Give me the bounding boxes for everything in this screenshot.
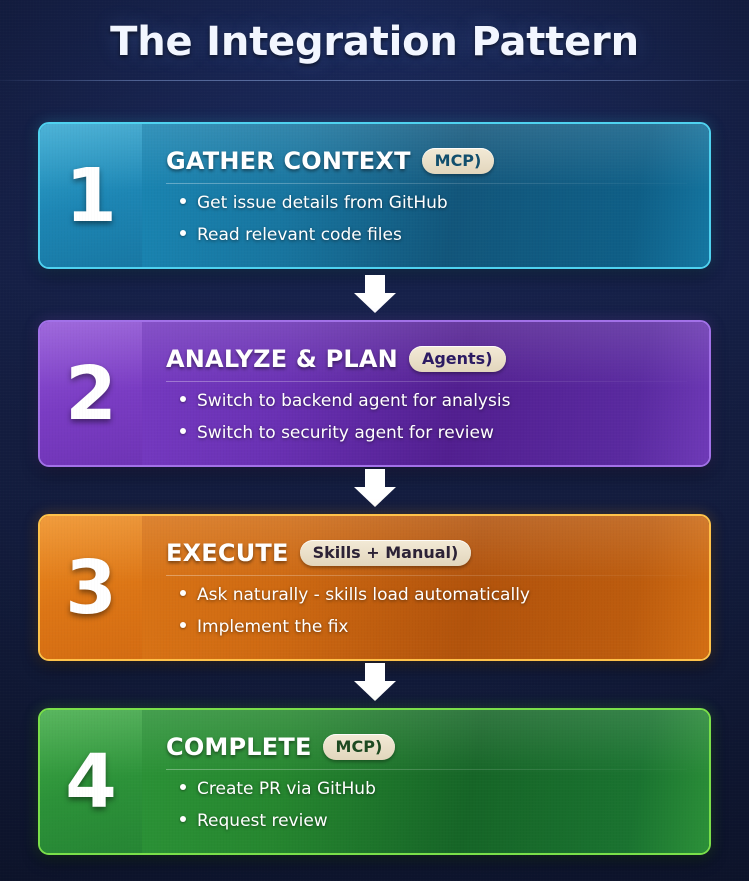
arrow-down-icon	[365, 275, 385, 293]
bullet-text: Request review	[197, 811, 328, 831]
list-item: Ask naturally - skills load automaticall…	[180, 585, 691, 605]
bullet-text: Create PR via GitHub	[197, 779, 376, 799]
integration-pattern-infographic: The Integration Pattern 1 GATHER CONTEXT…	[0, 0, 749, 881]
arrow-step2-to-step3	[353, 469, 397, 507]
step-number-4: 4	[40, 745, 142, 819]
step-number-panel-3: 3	[40, 516, 142, 659]
step-badge-1: MCP)	[422, 148, 495, 174]
step-title-2: ANALYZE & PLAN	[166, 345, 398, 373]
bullet-dot-icon	[180, 230, 186, 236]
step-card-3[interactable]: 3 EXECUTE Skills + Manual) Ask naturally…	[38, 514, 711, 661]
card-heading-row-2: ANALYZE & PLAN Agents)	[166, 344, 691, 374]
bullet-text: Get issue details from GitHub	[197, 193, 448, 213]
bullet-list-2: Switch to backend agent for analysis Swi…	[180, 391, 691, 455]
card-content-2: ANALYZE & PLAN Agents) Switch to backend…	[166, 322, 691, 465]
arrow-step3-to-step4	[353, 663, 397, 701]
step-title-3: EXECUTE	[166, 539, 289, 567]
arrow-head	[354, 293, 396, 313]
card-heading-divider-3	[166, 575, 687, 576]
card-content-3: EXECUTE Skills + Manual) Ask naturally -…	[166, 516, 691, 659]
step-title-4: COMPLETE	[166, 733, 312, 761]
list-item: Get issue details from GitHub	[180, 193, 691, 213]
list-item: Read relevant code files	[180, 225, 691, 245]
list-item: Create PR via GitHub	[180, 779, 691, 799]
bullet-text: Implement the fix	[197, 617, 348, 637]
card-heading-row-1: GATHER CONTEXT MCP)	[166, 146, 691, 176]
step-card-2[interactable]: 2 ANALYZE & PLAN Agents) Switch to backe…	[38, 320, 711, 467]
step-badge-4: MCP)	[323, 734, 396, 760]
step-card-4[interactable]: 4 COMPLETE MCP) Create PR via GitHub Req…	[38, 708, 711, 855]
bullet-text: Switch to security agent for review	[197, 423, 494, 443]
list-item: Request review	[180, 811, 691, 831]
list-item: Switch to backend agent for analysis	[180, 391, 691, 411]
bullet-list-3: Ask naturally - skills load automaticall…	[180, 585, 691, 649]
bullet-dot-icon	[180, 784, 186, 790]
bullet-dot-icon	[180, 428, 186, 434]
page-title: The Integration Pattern	[0, 19, 749, 65]
bullet-text: Read relevant code files	[197, 225, 402, 245]
arrow-down-icon	[365, 663, 385, 681]
step-number-3: 3	[40, 551, 142, 625]
list-item: Implement the fix	[180, 617, 691, 637]
bullet-text: Switch to backend agent for analysis	[197, 391, 510, 411]
card-content-4: COMPLETE MCP) Create PR via GitHub Reque…	[166, 710, 691, 853]
step-number-1: 1	[40, 159, 142, 233]
card-heading-divider-2	[166, 381, 687, 382]
step-number-2: 2	[40, 357, 142, 431]
header: The Integration Pattern	[0, 0, 749, 81]
bullet-dot-icon	[180, 622, 186, 628]
bullet-list-1: Get issue details from GitHub Read relev…	[180, 193, 691, 257]
arrow-head	[354, 681, 396, 701]
arrow-head	[354, 487, 396, 507]
bullet-dot-icon	[180, 590, 186, 596]
header-divider	[0, 80, 749, 81]
card-heading-row-4: COMPLETE MCP)	[166, 732, 691, 762]
step-number-panel-2: 2	[40, 322, 142, 465]
bullet-dot-icon	[180, 396, 186, 402]
card-heading-row-3: EXECUTE Skills + Manual)	[166, 538, 691, 568]
step-card-1[interactable]: 1 GATHER CONTEXT MCP) Get issue details …	[38, 122, 711, 269]
bullet-dot-icon	[180, 198, 186, 204]
bullet-dot-icon	[180, 816, 186, 822]
step-badge-2: Agents)	[409, 346, 506, 372]
arrow-step1-to-step2	[353, 275, 397, 313]
step-number-panel-4: 4	[40, 710, 142, 853]
step-number-panel-1: 1	[40, 124, 142, 267]
bullet-text: Ask naturally - skills load automaticall…	[197, 585, 530, 605]
step-title-1: GATHER CONTEXT	[166, 147, 411, 175]
step-badge-3: Skills + Manual)	[300, 540, 472, 566]
arrow-down-icon	[365, 469, 385, 487]
card-heading-divider-4	[166, 769, 687, 770]
bullet-list-4: Create PR via GitHub Request review	[180, 779, 691, 843]
card-heading-divider-1	[166, 183, 687, 184]
card-content-1: GATHER CONTEXT MCP) Get issue details fr…	[166, 124, 691, 267]
list-item: Switch to security agent for review	[180, 423, 691, 443]
